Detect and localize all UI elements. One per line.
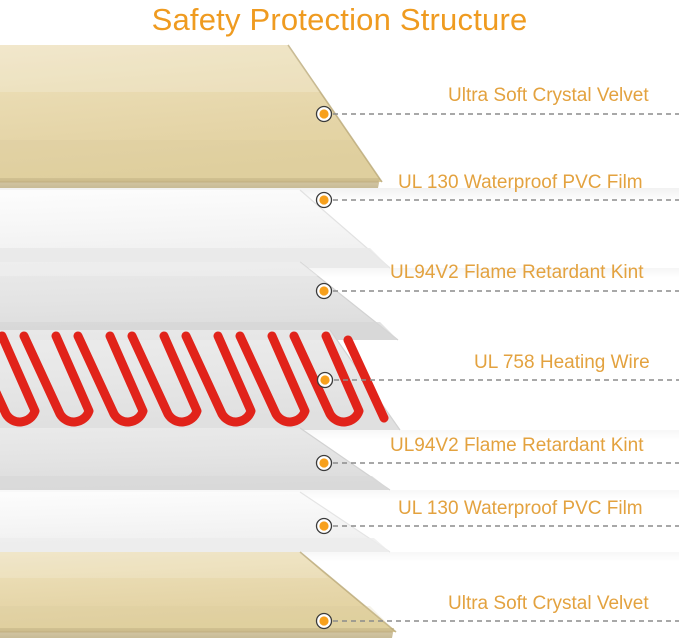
layer-label-7: Ultra Soft Crystal Velvet	[448, 593, 649, 615]
layer-marker-dot[interactable]	[317, 519, 332, 534]
layer-marker-dot[interactable]	[317, 107, 332, 122]
layer-label-6: UL 130 Waterproof PVC Film	[398, 498, 643, 520]
layer-marker-dot[interactable]	[318, 373, 333, 388]
layer-marker-dot[interactable]	[317, 614, 332, 629]
layer-label-2: UL 130 Waterproof PVC Film	[398, 172, 643, 194]
layer-marker-dot[interactable]	[317, 284, 332, 299]
layer-label-4: UL 758 Heating Wire	[474, 352, 650, 374]
layer-label-3: UL94V2 Flame Retardant Kint	[390, 262, 643, 284]
layer-marker-dot[interactable]	[317, 456, 332, 471]
layer-label-1: Ultra Soft Crystal Velvet	[448, 85, 649, 107]
layer-pvc-bottom	[0, 492, 390, 552]
layer-marker-dot[interactable]	[317, 193, 332, 208]
layer-velvet-bottom	[0, 552, 396, 638]
infographic-canvas: Safety Protection Structure	[0, 0, 679, 638]
layer-label-5: UL94V2 Flame Retardant Kint	[390, 435, 643, 457]
